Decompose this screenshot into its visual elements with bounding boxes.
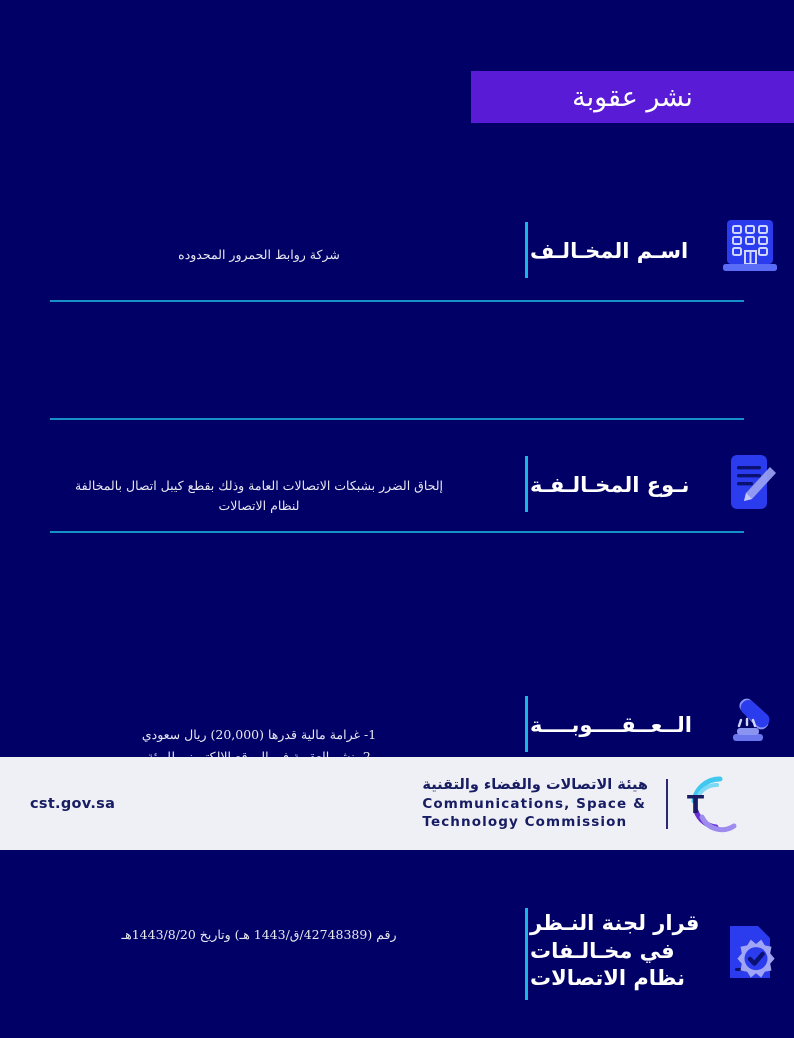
certificate-check-icon [714, 922, 786, 984]
building-icon [714, 218, 786, 274]
page-title: نشر عقوبة [572, 82, 693, 113]
row-accent-bar [525, 696, 528, 752]
details-table: اسـم المخـالـف شركة روابط الحمرور المحدو… [0, 200, 794, 689]
footer-org-name: هيئة الاتصالات والفضاء والتقنية Communic… [422, 776, 648, 832]
row-divider [50, 531, 744, 533]
value-line: 1- غرامة مالية قدرها (20,000) ريال سعودي [24, 724, 494, 746]
website-url[interactable]: cst.gov.sa [30, 796, 115, 812]
value-line: رقم (42748389/ق/1443 هـ) وتاريخ 1443/8/2… [24, 925, 494, 945]
value-line: لنظام الاتصالات [24, 496, 494, 516]
row-label-committee-decision: قرار لجنة النـظر في مخـالـفات نظام الاتص… [530, 910, 710, 993]
value-line: شركة روابط الحمرور المحدوده [24, 245, 494, 265]
table-row: قرار لجنة النـظر في مخـالـفات نظام الاتص… [0, 898, 794, 1038]
row-label-violator-name: اسـم المخـالـف [530, 238, 710, 266]
row-label-penalty: الــعــقــــوبــــة [530, 712, 710, 740]
org-name-en-line2: Technology Commission [422, 813, 648, 831]
footer-divider [666, 779, 668, 829]
row-accent-bar [525, 222, 528, 278]
row-divider [50, 300, 744, 302]
row-label-violation-type: نـوع المخـالـفـة [530, 472, 710, 500]
row-accent-bar [525, 456, 528, 512]
row-value-violator-name: شركة روابط الحمرور المحدوده [24, 245, 494, 265]
table-row: نـوع المخـالـفـة إلحاق الضرر بشبكات الات… [0, 436, 794, 554]
cst-logo: CST [686, 773, 764, 835]
footer: CST هيئة الاتصالات والفضاء والتقنية Comm… [0, 757, 794, 850]
document-pen-icon [714, 452, 786, 512]
header-banner: نشر عقوبة [471, 71, 794, 123]
row-accent-bar [525, 908, 528, 1000]
svg-text:CST: CST [686, 790, 704, 819]
org-name-en-line1: Communications, Space & [422, 795, 648, 813]
row-value-committee-decision: رقم (42748389/ق/1443 هـ) وتاريخ 1443/8/2… [24, 925, 494, 945]
row-value-violation-type: إلحاق الضرر بشبكات الاتصالات العامة وذلك… [24, 476, 494, 516]
value-line: إلحاق الضرر بشبكات الاتصالات العامة وذلك… [24, 476, 494, 496]
row-divider [50, 418, 744, 420]
gavel-icon [714, 690, 786, 748]
org-name-ar: هيئة الاتصالات والفضاء والتقنية [422, 776, 648, 796]
